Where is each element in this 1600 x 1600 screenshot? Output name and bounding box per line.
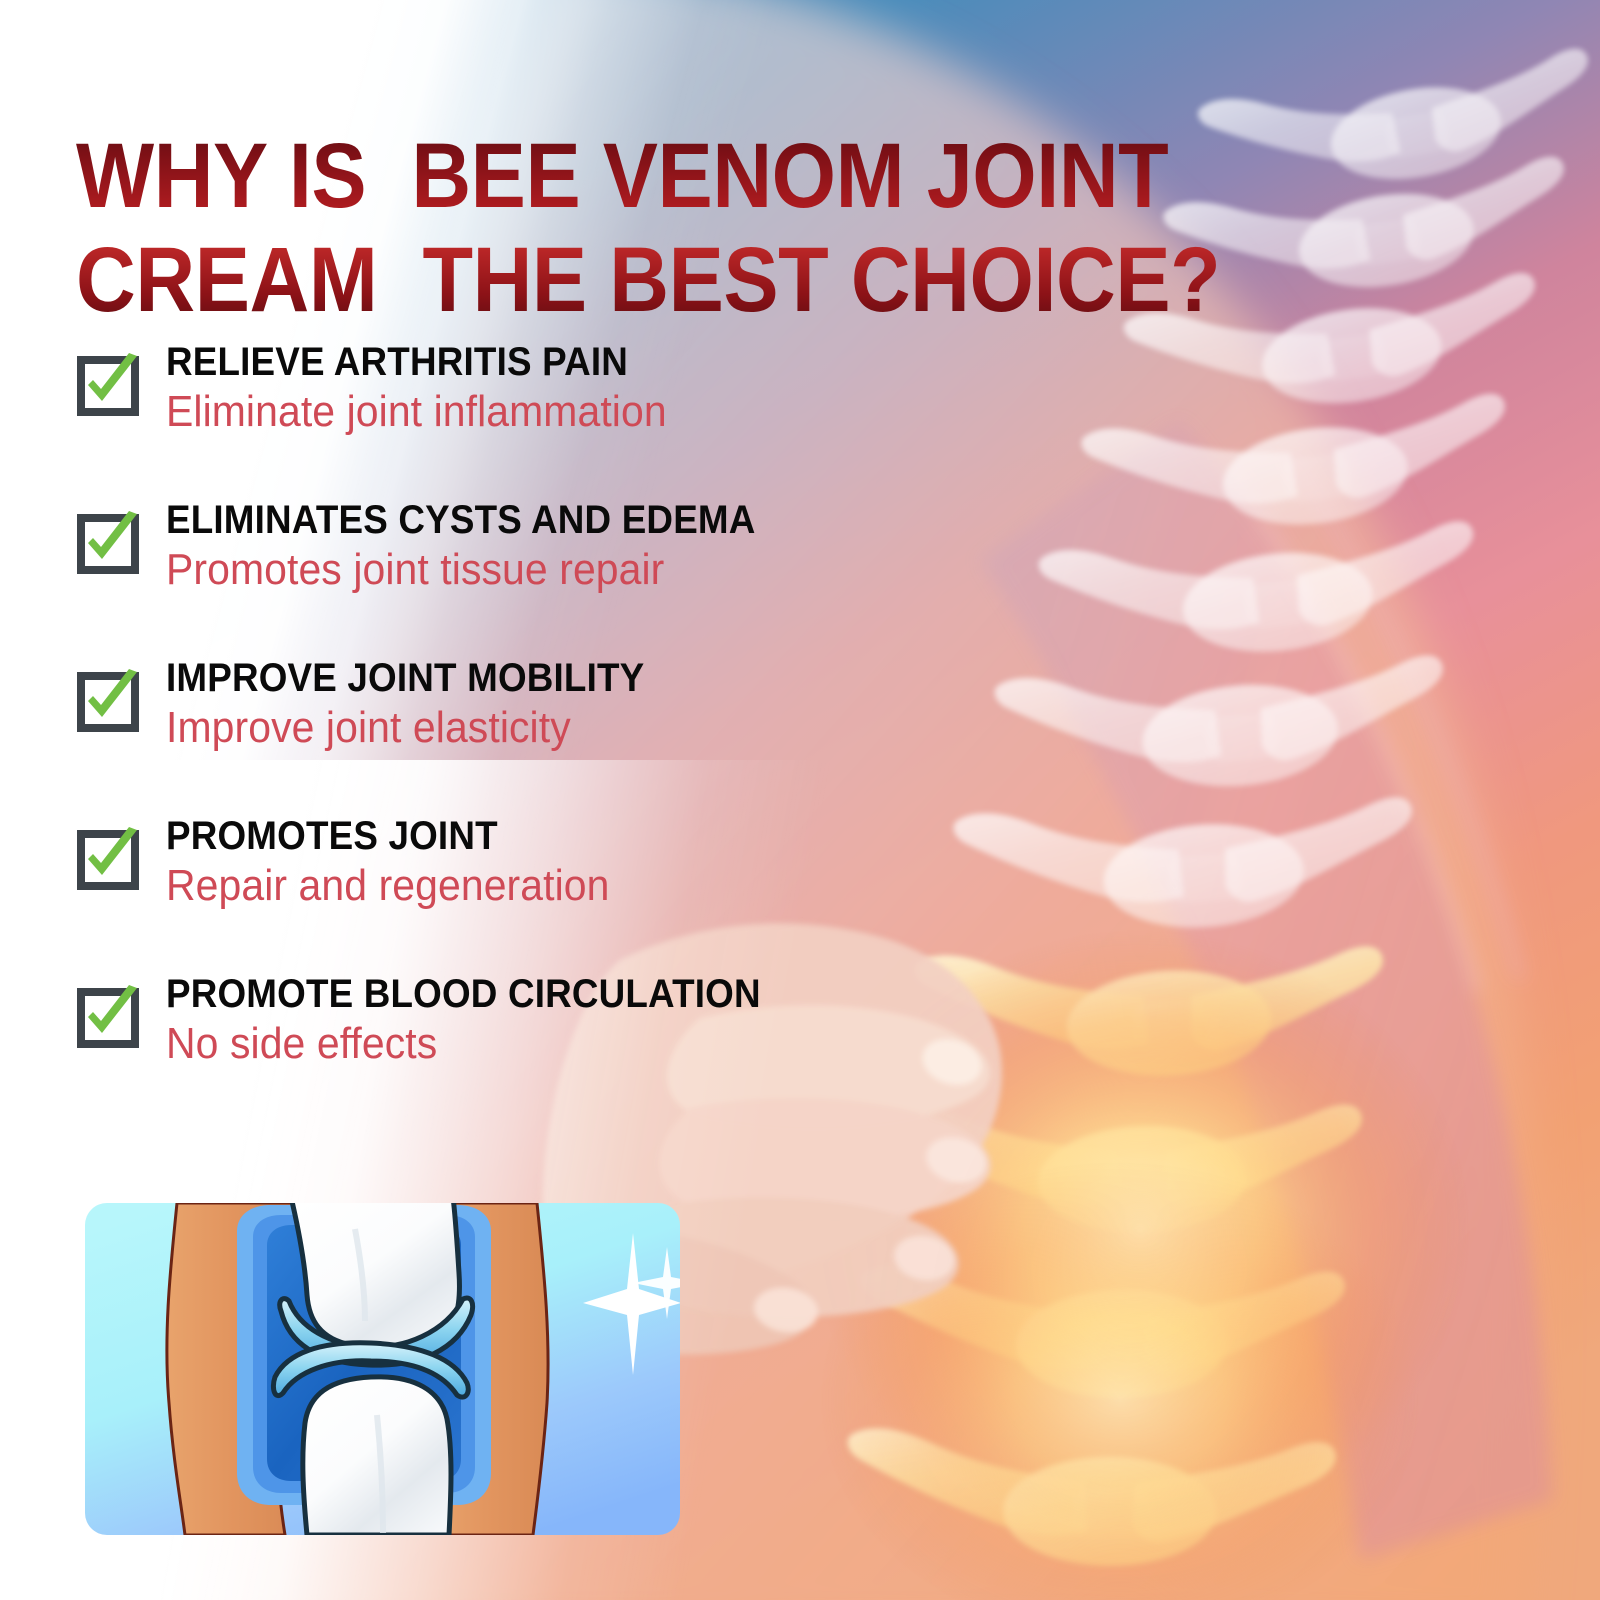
list-item-texts: RELIEVE ARTHRITIS PAIN Eliminate joint i…: [166, 340, 1066, 437]
list-item-texts: IMPROVE JOINT MOBILITY Improve joint ela…: [166, 656, 1066, 753]
list-item: PROMOTES JOINT Repair and regeneration: [70, 814, 1070, 972]
list-item-subtext: Eliminate joint inflammation: [166, 387, 1003, 437]
page-title: WHY IS BEE VENOM JOINT CREAM THE BEST CH…: [76, 124, 1246, 332]
list-item-heading: ELIMINATES CYSTS AND EDEMA: [166, 498, 994, 542]
checkbox-checked-icon: [75, 668, 141, 734]
list-item-heading: PROMOTES JOINT: [166, 814, 994, 858]
benefits-list: RELIEVE ARTHRITIS PAIN Eliminate joint i…: [70, 340, 1070, 1130]
list-item: ELIMINATES CYSTS AND EDEMA Promotes join…: [70, 498, 1070, 656]
checkbox-checked-icon: [75, 984, 141, 1050]
poster-root: WHY IS BEE VENOM JOINT CREAM THE BEST CH…: [0, 0, 1600, 1600]
list-item-subtext: Repair and regeneration: [166, 861, 1003, 911]
checkbox-checked-icon: [75, 826, 141, 892]
list-item-texts: ELIMINATES CYSTS AND EDEMA Promotes join…: [166, 498, 1066, 595]
checkbox-checked-icon: [75, 352, 141, 418]
list-item-heading: PROMOTE BLOOD CIRCULATION: [166, 972, 994, 1016]
list-item-texts: PROMOTE BLOOD CIRCULATION No side effect…: [166, 972, 1066, 1069]
list-item: IMPROVE JOINT MOBILITY Improve joint ela…: [70, 656, 1070, 814]
list-item-subtext: Promotes joint tissue repair: [166, 545, 1003, 595]
list-item-heading: IMPROVE JOINT MOBILITY: [166, 656, 994, 700]
list-item-heading: RELIEVE ARTHRITIS PAIN: [166, 340, 994, 384]
list-item-texts: PROMOTES JOINT Repair and regeneration: [166, 814, 1066, 911]
list-item-subtext: No side effects: [166, 1019, 1003, 1069]
checkbox-checked-icon: [75, 510, 141, 576]
list-item: RELIEVE ARTHRITIS PAIN Eliminate joint i…: [70, 340, 1070, 498]
list-item-subtext: Improve joint elasticity: [166, 703, 1003, 753]
knee-joint-card: [85, 1203, 680, 1535]
list-item: PROMOTE BLOOD CIRCULATION No side effect…: [70, 972, 1070, 1130]
